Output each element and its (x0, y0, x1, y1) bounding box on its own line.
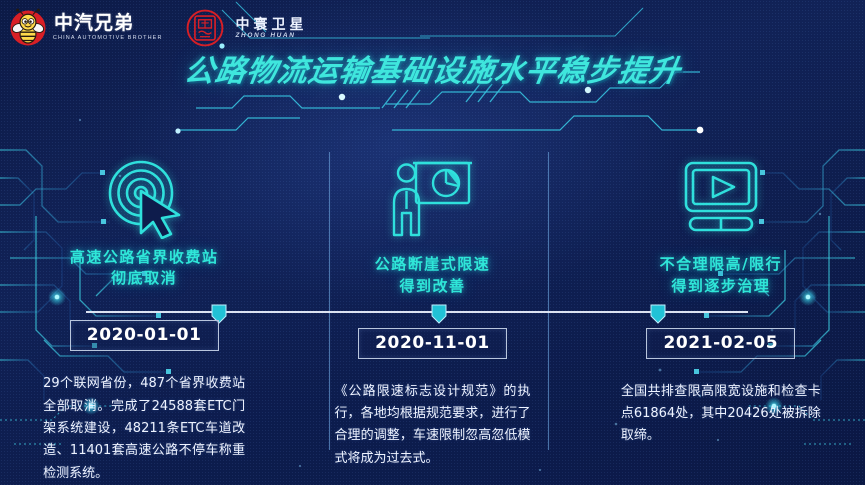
column-body-text: 29个联网省份，487个省界收费站全部取消。完成了24588套ETC门架系统建设… (43, 373, 245, 485)
column-body-text: 《公路限速标志设计规范》的执行，各地均根据规范要求，进行了合理的调整，车速限制忽… (334, 381, 530, 470)
click-target-cursor-icon (101, 153, 187, 239)
column-heading-line1: 公路断崖式限速 (375, 254, 491, 276)
seal-stamp-icon (183, 6, 227, 50)
column-heading-line2: 得到改善 (375, 276, 491, 298)
logo-zhong-huan: 中寰卫星 ZHONG HUAN (183, 6, 307, 50)
timeline-column-2: 公路断崖式限速 得到改善 2020-11-01 《公路限速标志设计规范》的执行，… (288, 150, 576, 485)
slide-canvas: 中汽兄弟 CHINA AUTOMOTIVE BROTHER 中寰卫星 ZHONG… (0, 0, 865, 485)
column-date-badge: 2020-01-01 (70, 320, 219, 351)
presenter-pie-chart-board-icon (389, 157, 475, 243)
logo-en-text: CHINA AUTOMOTIVE BROTHER (53, 36, 163, 41)
column-heading: 不合理限高/限行 得到逐步治理 (660, 254, 782, 298)
logo-cn-text: 中寰卫星 (235, 17, 307, 31)
column-heading: 高速公路省界收费站 彻底取消 (70, 247, 219, 291)
column-heading-line2: 得到逐步治理 (660, 276, 782, 298)
column-icon-wrap (389, 150, 475, 250)
column-body-text: 全国共排查限高限宽设施和检查卡点61864处，其中20426处被拆除取缔。 (621, 381, 821, 448)
logo-china-automotive-brother: 中汽兄弟 CHINA AUTOMOTIVE BROTHER (8, 8, 161, 48)
column-heading-line2: 彻底取消 (70, 268, 219, 290)
slide-title: 公路物流运输基础设施水平稳步提升 (0, 46, 865, 90)
column-date-badge: 2020-11-01 (358, 328, 507, 359)
logo-en-text: ZHONG HUAN (235, 33, 307, 40)
column-heading-line1: 高速公路省界收费站 (70, 247, 219, 269)
timeline-columns: 高速公路省界收费站 彻底取消 2020-01-01 29个联网省份，487个省界… (0, 150, 865, 485)
column-heading-line1: 不合理限高/限行 (660, 254, 782, 276)
timeline-column-3: 不合理限高/限行 得到逐步治理 2021-02-05 全国共排查限高限宽设施和检… (577, 150, 865, 485)
bee-mascot-icon (8, 8, 48, 48)
column-heading: 公路断崖式限速 得到改善 (375, 254, 491, 298)
logo-bar: 中汽兄弟 CHINA AUTOMOTIVE BROTHER 中寰卫星 ZHONG… (8, 6, 307, 50)
column-icon-wrap (678, 150, 764, 250)
logo-cn-text: 中汽兄弟 (54, 14, 161, 33)
slide-title-text: 公路物流运输基础设施水平稳步提升 (181, 46, 684, 90)
column-date-badge: 2021-02-05 (646, 328, 795, 359)
timeline-column-1: 高速公路省界收费站 彻底取消 2020-01-01 29个联网省份，487个省界… (0, 150, 288, 485)
column-icon-wrap (101, 150, 187, 243)
video-monitor-play-icon (678, 157, 764, 243)
